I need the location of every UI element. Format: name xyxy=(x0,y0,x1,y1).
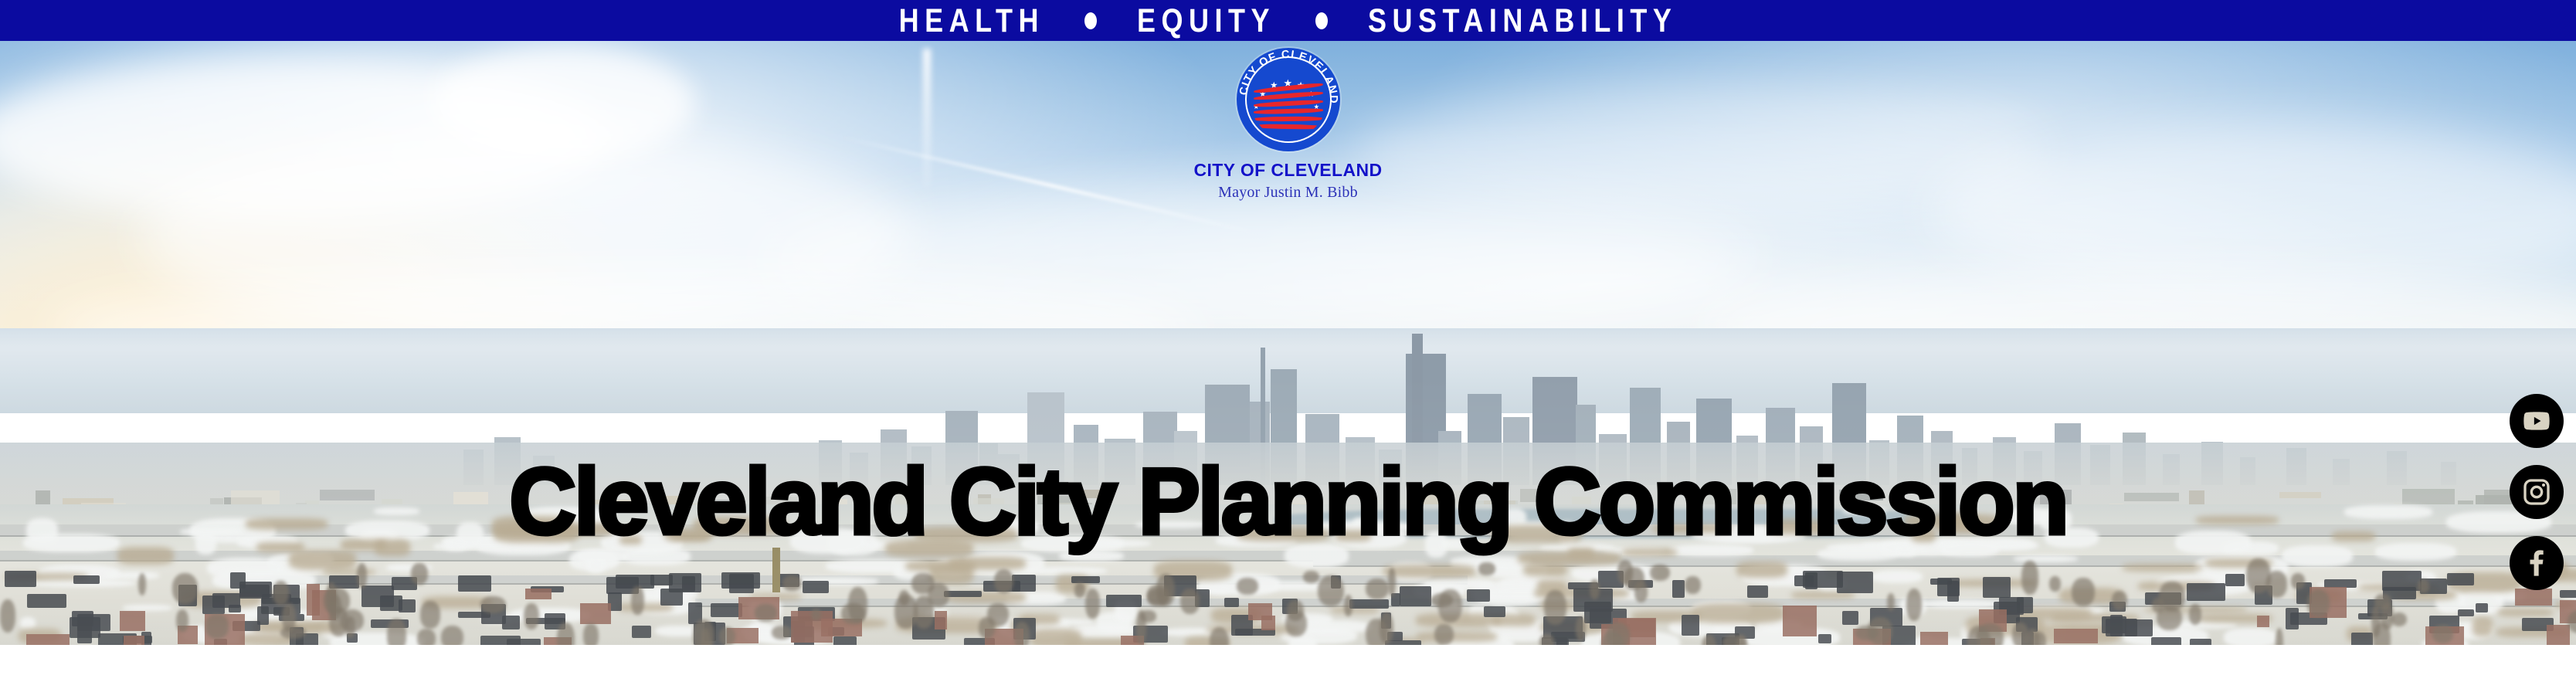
house-roof xyxy=(480,636,521,645)
cloud xyxy=(433,46,695,161)
tagline-bullet-dot-icon xyxy=(1084,12,1097,29)
house-roof xyxy=(1349,599,1389,609)
bare-tree xyxy=(1722,635,1746,645)
house-roof xyxy=(458,575,491,591)
snow-patch xyxy=(1922,599,2002,609)
house-roof xyxy=(1747,585,1767,598)
bare-tree xyxy=(1237,578,1258,595)
house-roof xyxy=(1071,576,1100,583)
bare-tree xyxy=(1344,595,1352,616)
bare-tree xyxy=(2291,573,2305,589)
seal-circular-text: CITY OF CLEVELAND OHIO xyxy=(1237,48,1340,151)
brush-patch xyxy=(289,550,356,570)
bare-tree xyxy=(811,609,821,620)
bare-tree xyxy=(1074,582,1085,597)
snow-patch xyxy=(2282,545,2353,567)
brush-patch xyxy=(1736,562,1787,578)
house-roof xyxy=(2151,637,2181,645)
bare-tree xyxy=(417,629,436,645)
bare-tree xyxy=(693,619,714,645)
bare-tree xyxy=(1590,579,1600,599)
bare-tree xyxy=(1285,611,1307,636)
house-roof xyxy=(27,594,66,608)
brick-building xyxy=(2547,625,2571,645)
tagline-word-health: HEALTH xyxy=(899,4,1044,36)
house-roof xyxy=(5,571,36,587)
snow-patch xyxy=(1288,636,1317,645)
house-roof xyxy=(77,623,92,644)
house-roof xyxy=(1983,577,2011,597)
house-roof xyxy=(257,606,270,625)
brick-building xyxy=(120,611,145,631)
bare-tree xyxy=(205,614,229,639)
house-roof xyxy=(729,574,754,592)
bare-tree xyxy=(2072,578,2095,606)
facebook-glyph xyxy=(2521,548,2552,579)
house-roof xyxy=(2225,574,2245,587)
bare-tree xyxy=(420,601,440,628)
city-of-cleveland-seal-icon: ★★★★★★★ CITY OF CLEVELAND OHIO xyxy=(1237,48,1340,151)
snow-patch xyxy=(2014,555,2078,562)
bare-tree xyxy=(1868,617,1892,645)
bare-tree xyxy=(782,575,802,591)
brick-building xyxy=(2257,616,2269,628)
bare-tree xyxy=(583,623,598,645)
tagline-word-equity: EQUITY xyxy=(1137,4,1275,36)
bare-tree xyxy=(2418,579,2429,593)
bare-tree xyxy=(329,595,341,620)
house-roof xyxy=(2447,573,2473,585)
house-roof xyxy=(2017,597,2034,614)
youtube-icon[interactable] xyxy=(2510,394,2564,448)
brick-building xyxy=(124,636,144,645)
bare-tree xyxy=(755,604,777,622)
house-roof xyxy=(2476,603,2488,612)
mayor-name: Mayor Justin M. Bibb xyxy=(1126,184,1451,202)
brick-building xyxy=(580,603,611,624)
bare-tree xyxy=(2391,612,2408,627)
brick-building xyxy=(525,589,552,599)
house-roof xyxy=(1842,611,1858,625)
bare-tree xyxy=(1180,589,1200,614)
bare-tree xyxy=(1140,610,1156,623)
house-roof xyxy=(1224,598,1239,607)
bare-tree xyxy=(176,609,188,632)
bare-tree xyxy=(1906,589,1922,621)
house-roof xyxy=(2102,616,2126,633)
bare-tree xyxy=(894,595,918,629)
brush-patch xyxy=(1692,603,1784,623)
org-name: CITY OF CLEVELAND xyxy=(1126,160,1451,181)
brick-building xyxy=(2515,589,2552,606)
bare-tree xyxy=(557,623,575,645)
bare-tree xyxy=(1366,619,1389,645)
bare-tree xyxy=(979,617,995,639)
bare-tree xyxy=(524,603,539,629)
house-roof xyxy=(1937,578,1959,596)
bare-tree xyxy=(1366,579,1390,599)
tagline-banner: HEALTH EQUITY SUSTAINABILITY xyxy=(0,0,2576,41)
instagram-glyph xyxy=(2521,477,2552,507)
brush-patch xyxy=(117,547,174,565)
tagline-bullet-dot-icon xyxy=(1315,12,1328,29)
house-roof xyxy=(682,576,694,591)
bare-tree xyxy=(0,599,15,633)
bare-tree xyxy=(2189,604,2201,625)
brick-building xyxy=(1920,632,1948,645)
bare-tree xyxy=(387,619,406,645)
bare-tree xyxy=(1147,589,1169,606)
brush-patch xyxy=(2472,617,2493,636)
church-spire xyxy=(772,548,780,592)
bare-tree xyxy=(2049,576,2061,592)
instagram-icon[interactable] xyxy=(2510,465,2564,519)
house-roof xyxy=(1484,606,1505,617)
bare-tree xyxy=(1318,575,1344,606)
bare-tree xyxy=(2373,623,2391,645)
bare-tree xyxy=(1014,622,1029,645)
brush-patch xyxy=(324,569,375,575)
brush-patch xyxy=(2498,609,2553,616)
house-roof xyxy=(833,636,857,645)
bare-tree xyxy=(631,586,643,615)
house-roof xyxy=(1106,595,1142,607)
house-roof xyxy=(1672,580,1685,597)
house-roof xyxy=(73,575,100,584)
bare-tree xyxy=(719,627,735,645)
page-root: HEALTH EQUITY SUSTAINABILITY xyxy=(0,0,2576,682)
house-roof xyxy=(632,626,651,638)
bare-tree xyxy=(1576,616,1587,640)
bare-tree xyxy=(1388,568,1396,597)
bare-tree xyxy=(2012,623,2028,645)
cloud xyxy=(1931,126,2576,296)
house-roof xyxy=(458,612,490,618)
brush-patch xyxy=(905,561,976,572)
house-roof xyxy=(1467,589,1490,602)
bare-tree xyxy=(282,603,296,632)
house-roof xyxy=(2560,590,2576,598)
house-roof xyxy=(2351,633,2373,645)
brick-building xyxy=(935,611,947,629)
contrail xyxy=(923,49,931,188)
bare-tree xyxy=(1539,634,1554,645)
house-roof xyxy=(1682,615,1699,636)
bare-tree xyxy=(994,569,1014,593)
house-roof xyxy=(2187,583,2226,601)
brick-building xyxy=(26,634,69,645)
bare-tree xyxy=(138,573,146,595)
bare-tree xyxy=(2159,582,2185,611)
bare-tree xyxy=(2374,594,2391,610)
brush-patch xyxy=(1523,564,1567,576)
house-roof xyxy=(1803,571,1843,588)
house-roof xyxy=(399,599,415,612)
bare-tree xyxy=(1544,590,1566,625)
city-logo-lockup: ★★★★★★★ CITY OF CLEVELAND OHIO CITY OF C… xyxy=(1126,48,1451,202)
tagline-inner: HEALTH EQUITY SUSTAINABILITY xyxy=(899,7,1678,35)
brick-building xyxy=(1261,616,1275,630)
bare-tree xyxy=(2307,589,2330,616)
house-roof xyxy=(944,591,982,597)
house-roof xyxy=(2458,609,2475,616)
bare-tree xyxy=(411,563,428,584)
bare-tree xyxy=(1210,627,1229,645)
bare-tree xyxy=(1438,589,1462,623)
bare-tree xyxy=(172,573,198,604)
bare-tree xyxy=(2432,625,2453,644)
house-roof xyxy=(239,585,270,599)
house-roof xyxy=(1818,634,1832,643)
house-roof xyxy=(1400,586,1431,606)
social-media-rail xyxy=(2510,394,2564,590)
house-roof xyxy=(202,595,225,614)
bare-tree xyxy=(1434,624,1454,645)
bare-tree xyxy=(1478,562,1495,575)
house-roof xyxy=(803,581,829,592)
facebook-icon[interactable] xyxy=(2510,536,2564,590)
bare-tree xyxy=(273,581,289,606)
bare-tree xyxy=(357,563,367,589)
bare-tree xyxy=(1303,571,1320,583)
bare-tree xyxy=(1650,565,1670,581)
brick-building xyxy=(1783,606,1817,636)
svg-text:CITY OF CLEVELAND OHIO: CITY OF CLEVELAND OHIO xyxy=(1237,48,1339,104)
bare-tree xyxy=(2021,561,2038,595)
house-roof xyxy=(2190,639,2211,645)
snow-patch xyxy=(106,572,159,579)
house-roof xyxy=(502,616,520,630)
bare-tree xyxy=(1685,576,1701,594)
brush-patch xyxy=(2123,564,2202,572)
bare-tree xyxy=(772,626,792,640)
snow-patch xyxy=(20,617,36,629)
tagline-word-sustainability: SUSTAINABILITY xyxy=(1368,4,1677,36)
bare-tree xyxy=(480,596,506,613)
brick-building xyxy=(2054,629,2098,643)
bare-tree xyxy=(2266,571,2287,598)
brush-patch xyxy=(1417,632,1497,642)
snow-patch xyxy=(2224,628,2276,645)
youtube-glyph xyxy=(2521,405,2552,436)
bare-tree xyxy=(345,616,355,638)
bare-tree xyxy=(2276,628,2284,645)
brush-patch xyxy=(1030,629,1082,645)
bare-tree xyxy=(441,626,464,645)
snow-patch xyxy=(1872,570,1923,583)
bare-tree xyxy=(2112,591,2128,610)
brush-patch xyxy=(1383,565,1476,578)
bare-tree xyxy=(848,587,867,623)
bare-tree xyxy=(1634,582,1648,602)
page-title: Cleveland City Planning Commission xyxy=(19,454,2557,548)
bare-tree xyxy=(1085,589,1100,619)
